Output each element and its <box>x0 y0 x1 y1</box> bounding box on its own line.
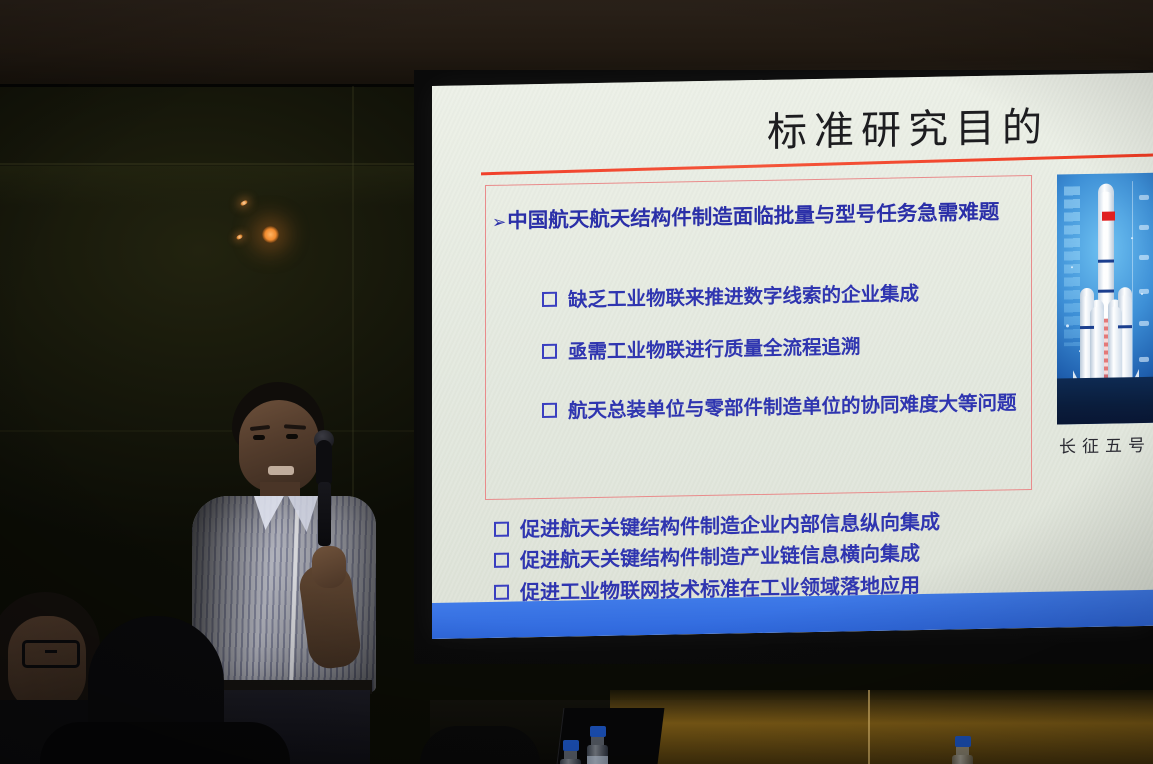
wall-seam-gradient <box>0 166 430 206</box>
presenter-hand <box>312 546 346 588</box>
slide-sub-bullet-text: 航天总装单位与零部件制造单位的协同难度大等问题 <box>568 392 1017 422</box>
ceiling-lamp-icon <box>262 226 279 243</box>
rocket-image <box>1057 173 1153 425</box>
bottle-body <box>560 759 581 764</box>
figure-caption: 长征五号 <box>1059 431 1151 458</box>
water-bottle <box>563 740 581 764</box>
square-bullet-icon <box>494 522 509 537</box>
rocket-image-ground <box>1057 377 1153 425</box>
audience-member-head <box>420 726 540 764</box>
microphone-shaft <box>316 440 332 484</box>
square-bullet-icon <box>542 403 557 418</box>
presenter-face <box>239 400 319 492</box>
water-bottle <box>590 726 608 764</box>
chinese-flag-icon <box>1102 211 1115 220</box>
slide-sub-bullet: 亟需工业物联进行质量全流程追溯 <box>542 333 861 368</box>
square-bullet-icon <box>494 585 509 600</box>
bottle-cap <box>563 740 579 751</box>
wall-seam <box>0 163 430 165</box>
slide-figure: 长征五号 <box>1057 172 1153 474</box>
square-bullet-icon <box>542 344 557 359</box>
microphone-handle <box>318 482 331 546</box>
square-bullet-icon <box>542 292 557 307</box>
slide-title: 标准研究目的 <box>767 95 1049 158</box>
bottle-cap <box>955 736 971 747</box>
square-bullet-icon <box>494 553 509 568</box>
eyeglasses-icon <box>22 640 80 668</box>
slide-sub-bullet-text: 亟需工业物联进行质量全流程追溯 <box>568 336 861 363</box>
amber-lit-wall-panel <box>610 690 1153 764</box>
slide-sub-bullet: 航天总装单位与零部件制造单位的协同难度大等问题 <box>542 378 1032 437</box>
bottle-neck <box>564 751 577 759</box>
water-bottle <box>955 736 973 764</box>
audience-member-shoulders <box>40 722 290 764</box>
bottle-neck <box>956 747 969 755</box>
bottle-cap <box>590 726 606 737</box>
presenter-eye <box>286 434 298 439</box>
bottle-body <box>587 745 608 764</box>
bottle-label <box>587 756 608 764</box>
presenter-mouth <box>268 466 294 475</box>
wall-panel-seam <box>868 690 870 764</box>
slide-sub-bullet-text: 缺乏工业物联来推进数字线索的企业集成 <box>568 283 919 311</box>
slide-main-bullet-text: 中国航天航天结构件制造面临批量与型号任务急需难题 <box>507 201 999 233</box>
bottle-neck <box>591 737 604 745</box>
arrow-bullet-icon: ➢ <box>492 213 506 232</box>
projection-screen: 标准研究目的 ➢中国航天航天结构件制造面临批量与型号任务急需难题 缺乏工业物联来… <box>432 73 1153 639</box>
presenter-eye <box>253 435 265 440</box>
presentation-photo: 标准研究目的 ➢中国航天航天结构件制造面临批量与型号任务急需难题 缺乏工业物联来… <box>0 0 1153 764</box>
bottle-body <box>952 755 973 764</box>
rocket-image-side-panel <box>1132 181 1151 386</box>
